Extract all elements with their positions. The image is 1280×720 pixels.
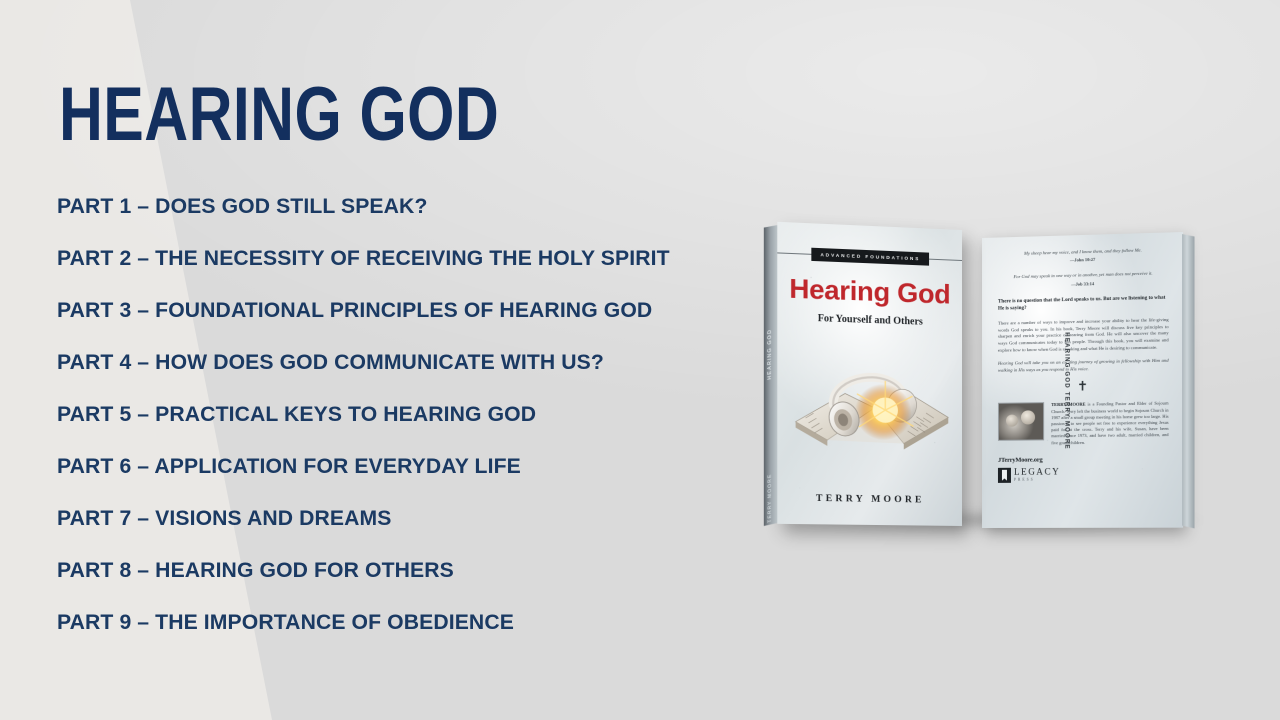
author-website: JTerryMoore.org — [998, 455, 1169, 463]
agenda-list: PART 1 – DOES GOD STILL SPEAK? PART 2 – … — [57, 196, 777, 664]
list-item: PART 4 – HOW DOES GOD COMMUNICATE WITH U… — [57, 352, 766, 374]
list-item: PART 5 – PRACTICAL KEYS TO HEARING GOD — [57, 404, 766, 426]
list-item: PART 2 – THE NECESSITY OF RECEIVING THE … — [57, 248, 766, 270]
list-item: PART 3 – FOUNDATIONAL PRINCIPLES OF HEAR… — [57, 300, 766, 322]
book-author: TERRY MOORE — [777, 493, 962, 506]
list-item: PART 6 – APPLICATION FOR EVERYDAY LIFE — [57, 456, 766, 478]
book-front-cover: HEARING GOD TERRY MOORE ADVANCED FOUNDAT… — [777, 222, 962, 526]
list-item: PART 7 – VISIONS AND DREAMS — [57, 508, 766, 530]
spine-title: HEARING GOD — [767, 328, 773, 380]
cross-icon: ✝ — [998, 378, 1169, 394]
list-item: PART 1 – DOES GOD STILL SPEAK? — [57, 196, 766, 218]
book-mockup: HEARING GOD TERRY MOORE My sheep hear my… — [760, 225, 1220, 555]
book-back-cover: HEARING GOD TERRY MOORE My sheep hear my… — [982, 232, 1183, 528]
series-banner-row: ADVANCED FOUNDATIONS — [777, 246, 962, 267]
book-subtitle: For Yourself and Others — [777, 312, 962, 329]
book-title: Hearing God — [777, 275, 962, 309]
author-bio-text: is a Founding Pastor and Elder of Sojour… — [1051, 401, 1168, 445]
back-paragraph-1: There are a number of ways to improve an… — [998, 317, 1169, 354]
back-paragraph-2: Hearing God will take you on an exciting… — [998, 358, 1169, 374]
list-item: PART 9 – THE IMPORTANCE OF OBEDIENCE — [57, 612, 766, 634]
author-photo — [998, 403, 1044, 442]
publisher-mark-icon — [998, 468, 1011, 483]
back-lead-text: There is no question that the Lord speak… — [998, 294, 1169, 313]
book-back-content: My sheep hear my voice, and I know them,… — [998, 247, 1169, 518]
cover-artwork-headphones-on-book — [788, 347, 954, 472]
banner-rule-left — [777, 252, 811, 254]
banner-rule-right — [929, 259, 962, 261]
author-bio: TERRY MOORE is a Founding Pastor and Eld… — [1051, 401, 1168, 446]
publisher-name: LEGACY — [1014, 468, 1060, 477]
book-front-spine: HEARING GOD TERRY MOORE — [764, 225, 779, 526]
book-front-face: ADVANCED FOUNDATIONS Hearing God For You… — [777, 222, 962, 526]
book-back-page-edge — [1182, 234, 1194, 528]
author-bio-name: TERRY MOORE — [1051, 402, 1085, 408]
list-item: PART 8 – HEARING GOD FOR OTHERS — [57, 560, 766, 582]
spine-author: TERRY MOORE — [767, 473, 773, 523]
series-banner: ADVANCED FOUNDATIONS — [811, 248, 929, 266]
publisher-subtitle: PRESS — [1014, 478, 1060, 482]
page-title: HEARING GOD — [59, 76, 499, 154]
presentation-slide: HEARING GOD PART 1 – DOES GOD STILL SPEA… — [0, 0, 1280, 720]
publisher-logo: LEGACY PRESS — [998, 466, 1169, 482]
back-author-block: TERRY MOORE is a Founding Pastor and Eld… — [998, 401, 1169, 447]
